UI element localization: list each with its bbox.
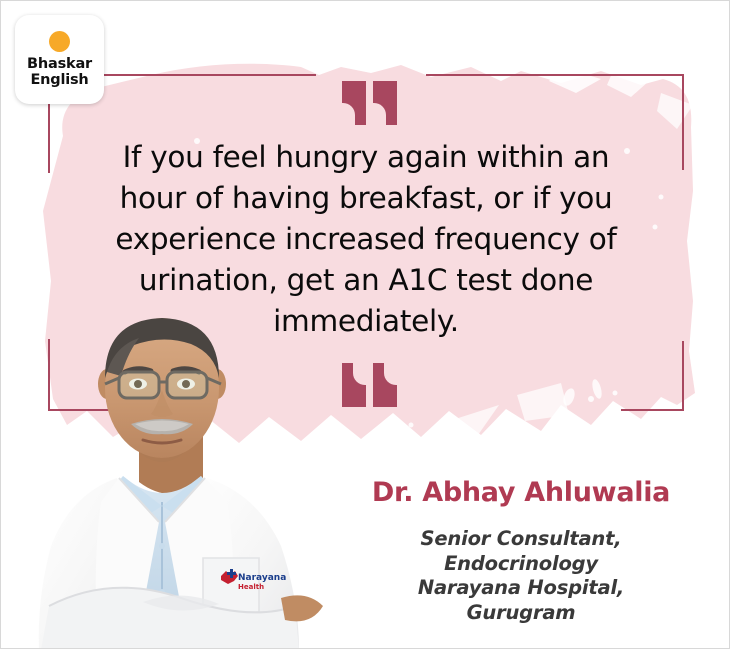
quote-line: hour of having breakfast, or if you (76, 178, 656, 219)
doctor-role: Senior Consultant, Endocrinology Narayan… (331, 527, 711, 625)
frame-line-bottom-right (621, 409, 684, 411)
quote-line: If you feel hungry again within an (76, 137, 656, 178)
frame-line-top-right (426, 74, 684, 76)
frame-line-right-bottom (682, 341, 684, 411)
role-line: Senior Consultant, (331, 527, 711, 552)
quote-line: urination, get an A1C test done (76, 260, 656, 301)
doctor-portrait: Narayana Health (31, 306, 361, 649)
frame-line-left-top (48, 101, 50, 173)
quote-line: experience increased frequency of (76, 219, 656, 260)
logo-line-1: Bhaskar (27, 56, 92, 72)
open-quote-icon (342, 81, 397, 125)
role-line: Gurugram (331, 601, 711, 626)
orange-circle-icon (49, 31, 70, 52)
svg-text:Narayana: Narayana (238, 573, 286, 583)
doctor-name: Dr. Abhay Ahluwalia (331, 477, 711, 509)
role-line: Narayana Hospital, (331, 576, 711, 601)
logo-line-2: English (30, 72, 88, 88)
svg-text:Health: Health (238, 583, 264, 591)
bhaskar-english-logo[interactable]: Bhaskar English (15, 15, 104, 104)
role-line: Endocrinology (331, 552, 711, 577)
frame-line-right-top (682, 74, 684, 170)
quote-card: Bhaskar English If you feel hungry again… (0, 0, 730, 649)
